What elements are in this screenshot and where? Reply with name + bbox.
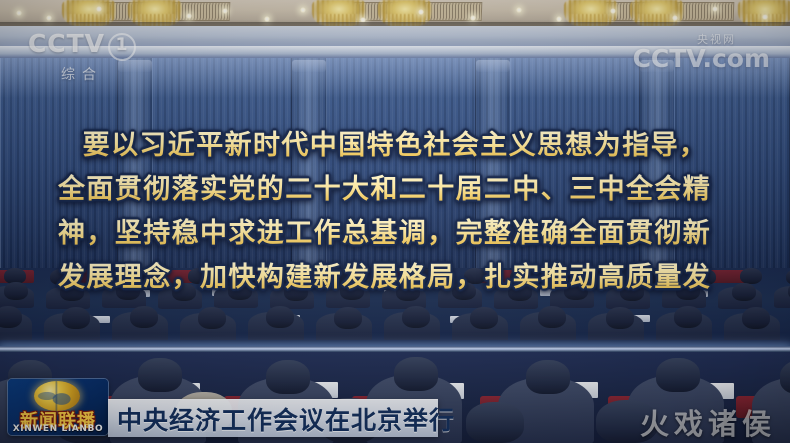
headline-bar: 中央经济工作会议在北京举行 — [108, 399, 438, 437]
headline-text: 中央经济工作会议在北京举行 — [108, 401, 455, 437]
audience-far-rows — [0, 268, 790, 350]
broadcast-video-frame: CCTV1 综合 央视网 CCTV.com 要以习近平新时代中国特色社会主义思想… — [0, 0, 790, 443]
program-logo-en-text: XINWEN LIANBO — [8, 424, 108, 434]
stage-curtain-backdrop — [0, 58, 790, 290]
program-logo-xinwen-lianbo: 新闻联播 XINWEN LIANBO — [8, 379, 108, 435]
upper-wall — [0, 26, 790, 48]
